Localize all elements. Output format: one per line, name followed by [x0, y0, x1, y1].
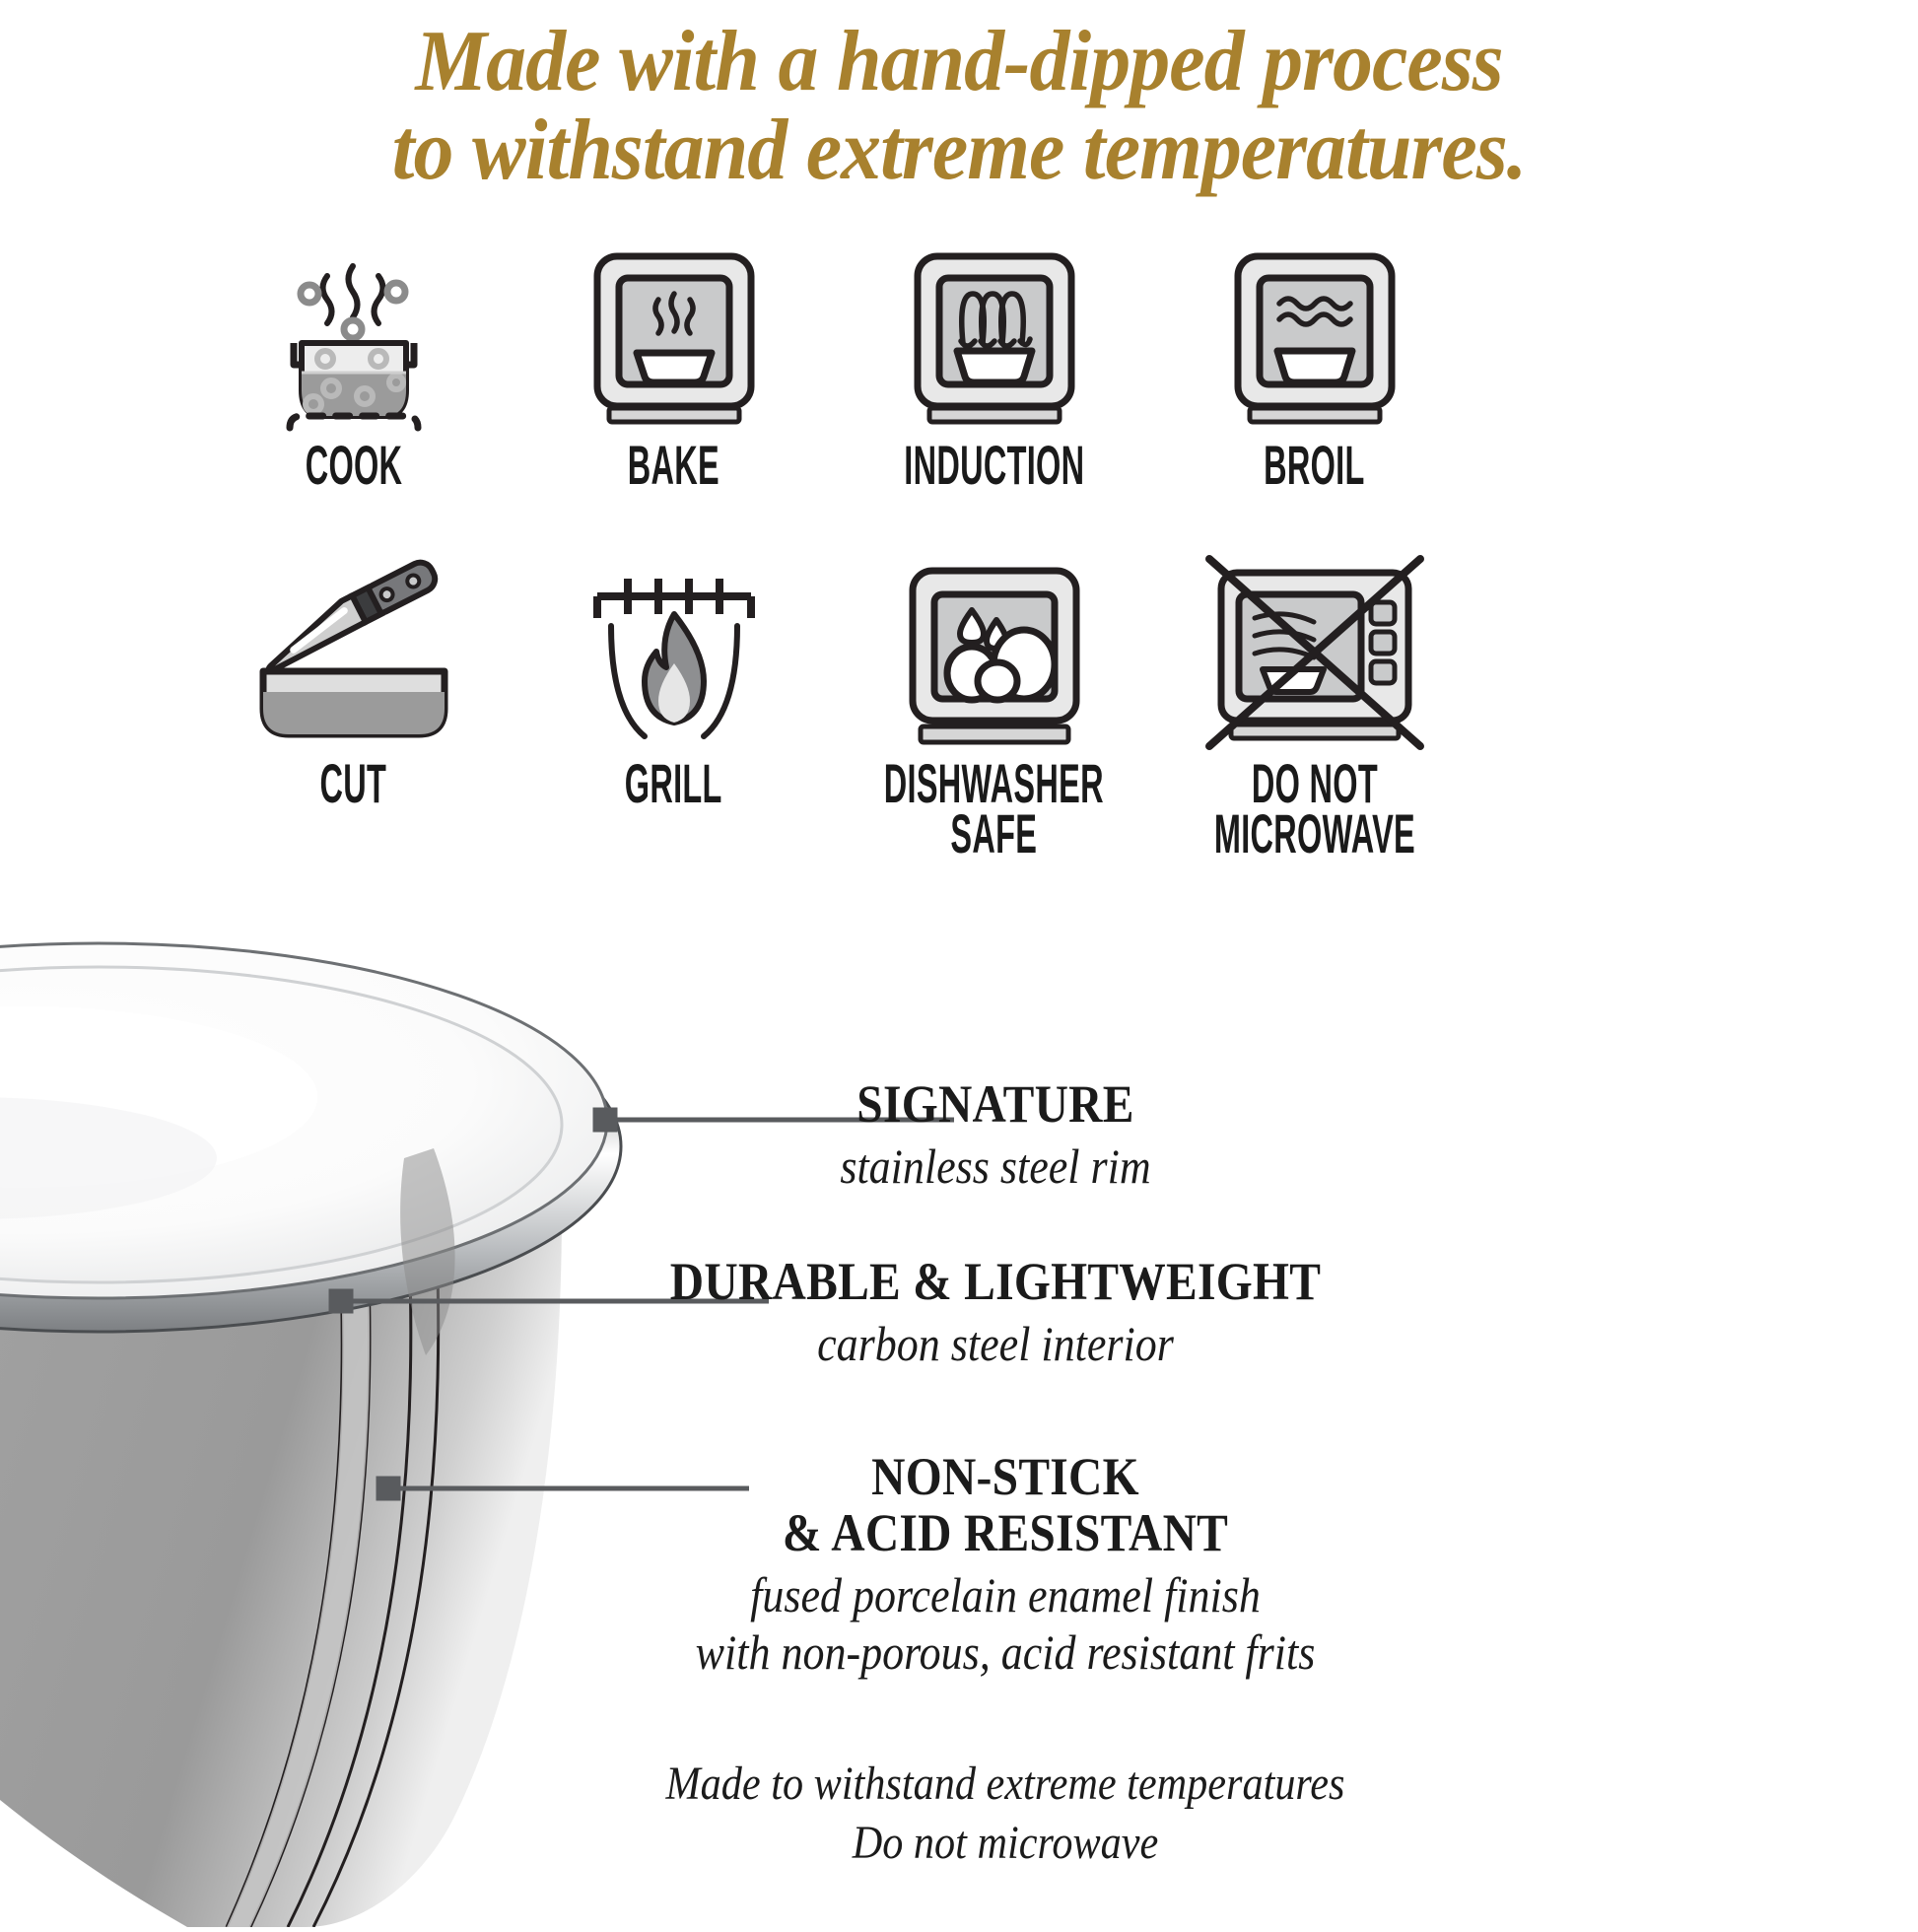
callout-signature-subtext: stainless steel rim — [692, 1138, 1299, 1196]
capability-label-broil: BROIL — [1264, 440, 1364, 491]
footnote-care-instructions: Made to withstand extreme temperatures D… — [641, 1755, 1369, 1873]
infographic-canvas: Made with a hand-dipped process to withs… — [0, 0, 1918, 1918]
headline-line-1: Made with a hand-dipped process — [67, 18, 1851, 106]
callout-nonstick-heading: NON-STICK & ACID RESISTANT — [641, 1449, 1369, 1561]
capability-broil: BROIL — [1154, 235, 1474, 491]
pot-boiling-icon — [250, 235, 457, 432]
grill-grate-flame-icon — [576, 538, 773, 750]
capability-dishwasher-safe: DISHWASHER SAFE — [834, 538, 1154, 860]
oven-broil-element-icon — [1216, 235, 1413, 432]
callout-durable-heading: DURABLE & LIGHTWEIGHT — [614, 1254, 1377, 1310]
capability-label-induction: INDUCTION — [904, 440, 1084, 491]
callout-nonstick-subtext: fused porcelain enamel finish with non-p… — [641, 1567, 1369, 1681]
capability-label-bake: BAKE — [628, 440, 719, 491]
microwave-icon — [1201, 538, 1428, 750]
callout-durable-subtext: carbon steel interior — [614, 1316, 1377, 1373]
page-title: Made with a hand-dipped process to withs… — [67, 18, 1851, 195]
capability-grill: GRILL — [514, 538, 834, 860]
headline-line-2: to withstand extreme temperatures. — [67, 106, 1851, 195]
capability-cook: COOK — [193, 235, 514, 491]
capability-label-do-not-microwave: DO NOT MICROWAVE — [1213, 758, 1414, 860]
callout-signature: SIGNATURE stainless steel rim — [651, 1076, 1340, 1196]
icon-row-1: COOK BA — [193, 235, 1474, 491]
callout-signature-heading: SIGNATURE — [692, 1076, 1299, 1133]
oven-bake-icon — [576, 235, 773, 432]
capability-icon-grid: COOK BA — [193, 235, 1474, 860]
capability-label-dishwasher-safe: DISHWASHER SAFE — [884, 758, 1104, 860]
capability-do-not-microwave: DO NOT MICROWAVE — [1154, 538, 1474, 860]
capability-label-grill: GRILL — [625, 758, 722, 809]
capability-cut: CUT — [193, 538, 514, 860]
knife-over-pan-icon — [245, 538, 462, 750]
dishwasher-icon — [891, 538, 1098, 750]
capability-label-cut: CUT — [320, 758, 387, 809]
capability-bake: BAKE — [514, 235, 834, 491]
oven-induction-coil-icon — [896, 235, 1093, 432]
callout-nonstick: NON-STICK & ACID RESISTANT fused porcela… — [591, 1449, 1419, 1681]
icon-row-2: CUT — [193, 538, 1474, 860]
capability-induction: INDUCTION — [834, 235, 1154, 491]
capability-label-cook: COOK — [305, 440, 402, 491]
callout-durable: DURABLE & LIGHTWEIGHT carbon steel inter… — [562, 1254, 1429, 1373]
